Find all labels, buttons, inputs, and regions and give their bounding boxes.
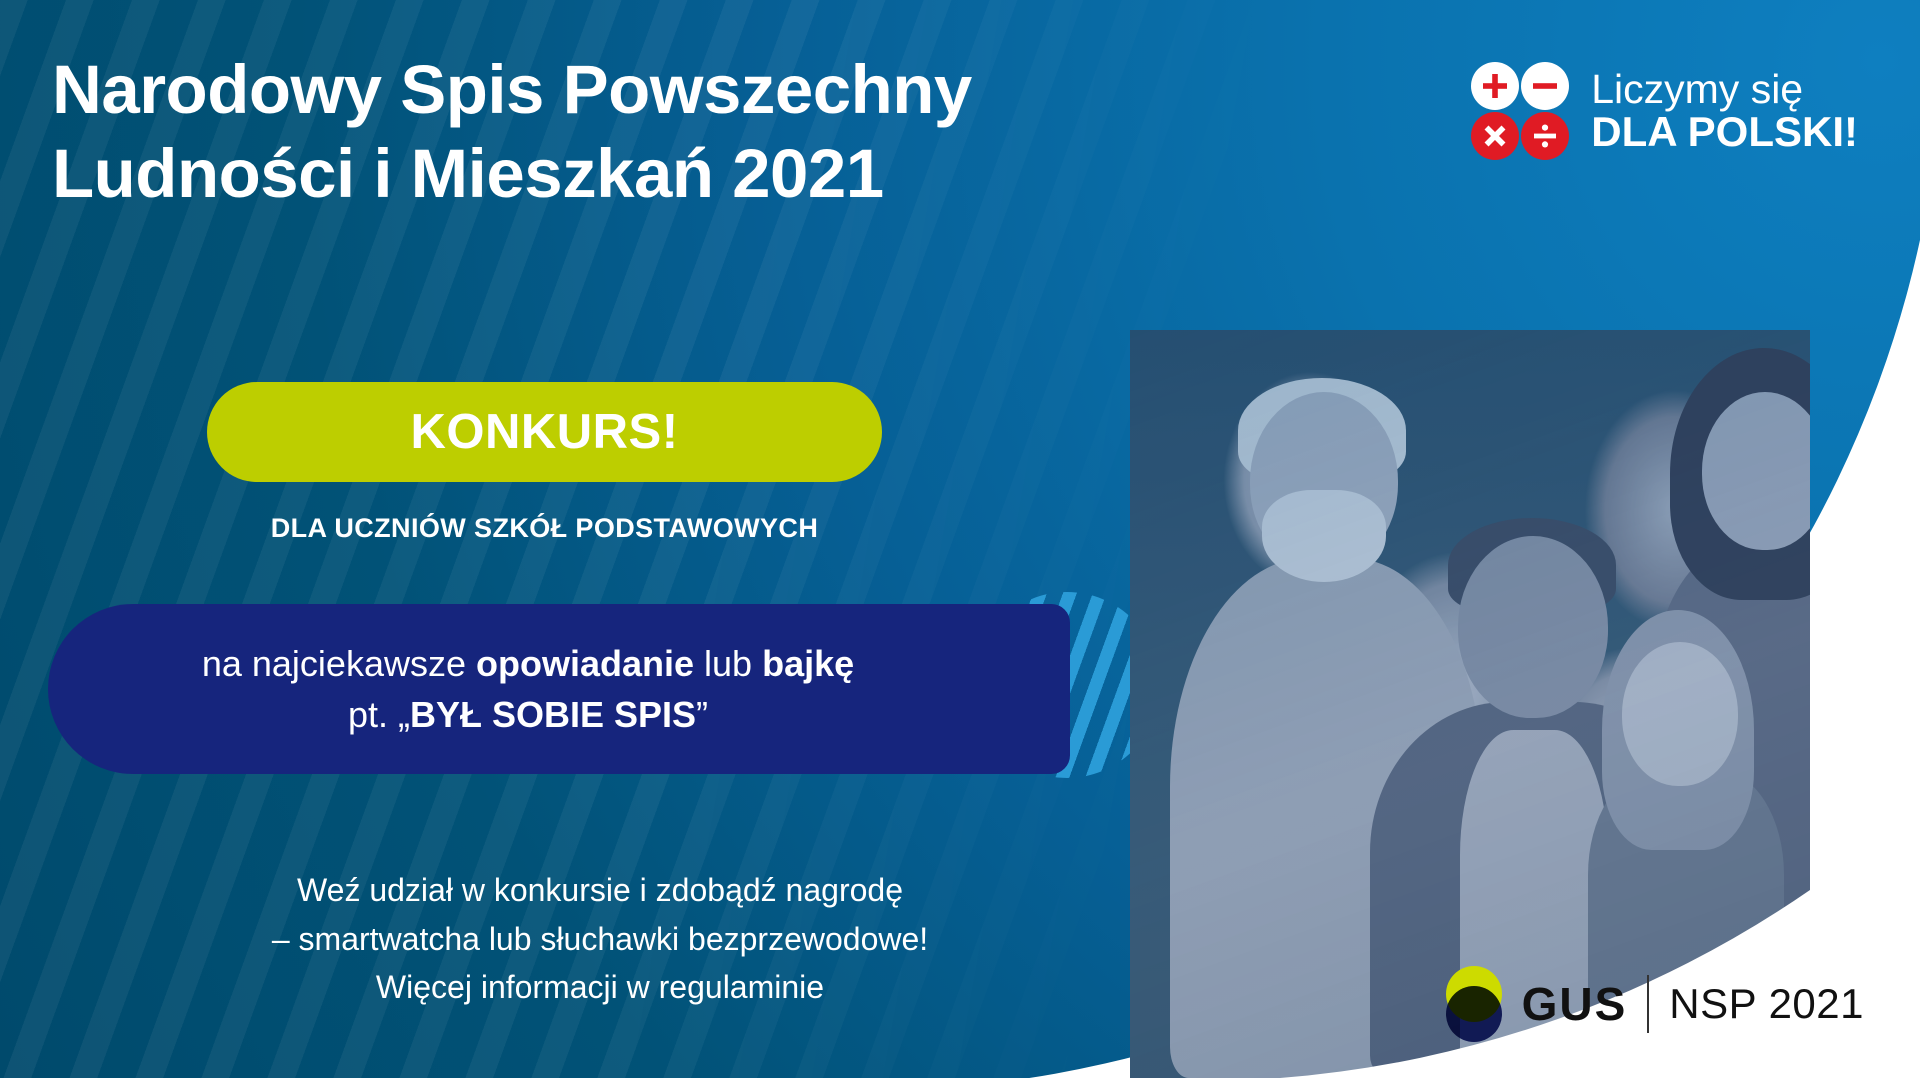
topic-line-1: na najciekawsze opowiadanie lub bajkę bbox=[202, 638, 854, 689]
gus-divider bbox=[1647, 975, 1649, 1033]
gus-wordmark: GUS bbox=[1522, 977, 1628, 1031]
gus-circle-navy bbox=[1446, 986, 1502, 1042]
topic-l1-d: bajkę bbox=[762, 643, 854, 684]
prize-note: Weź udział w konkursie i zdobądź nagrodę… bbox=[150, 866, 1050, 1012]
divide-icon bbox=[1521, 112, 1569, 160]
topic-l1-b: opowiadanie bbox=[476, 643, 694, 684]
konkurs-subline: DLA UCZNIÓW SZKÓŁ PODSTAWOWYCH bbox=[207, 513, 882, 544]
brand-claim-line2: DLA POLSKI! bbox=[1591, 110, 1858, 154]
topic-line-2: pt. „BYŁ SOBIE SPIS” bbox=[348, 689, 708, 740]
plus-icon bbox=[1471, 62, 1519, 110]
nsp-brand-logo: Liczymy się DLA POLSKI! bbox=[1471, 62, 1858, 160]
minus-icon bbox=[1521, 62, 1569, 110]
brand-claim: Liczymy się DLA POLSKI! bbox=[1591, 68, 1858, 154]
gus-logo: GUS NSP 2021 bbox=[1446, 966, 1864, 1042]
nsp-konkurs-banner: Narodowy Spis Powszechny Ludności i Mies… bbox=[0, 0, 1920, 1078]
topic-l1-a: na najciekawsze bbox=[202, 643, 476, 684]
topic-l2-c: ” bbox=[696, 694, 708, 735]
konkurs-button[interactable]: KONKURS! bbox=[207, 382, 882, 482]
topic-l2-a: pt. „ bbox=[348, 694, 410, 735]
topic-l1-c: lub bbox=[694, 643, 762, 684]
page-title: Narodowy Spis Powszechny Ludności i Mies… bbox=[52, 48, 1332, 216]
multiply-icon bbox=[1471, 112, 1519, 160]
brand-claim-line1: Liczymy się bbox=[1591, 68, 1858, 111]
topic-text: na najciekawsze opowiadanie lub bajkę pt… bbox=[48, 604, 1008, 774]
nsp-label: NSP 2021 bbox=[1669, 980, 1864, 1028]
gus-circles-icon bbox=[1446, 966, 1502, 1042]
math-operators-icon-grid bbox=[1471, 62, 1569, 160]
topic-l2-b: BYŁ SOBIE SPIS bbox=[410, 694, 696, 735]
